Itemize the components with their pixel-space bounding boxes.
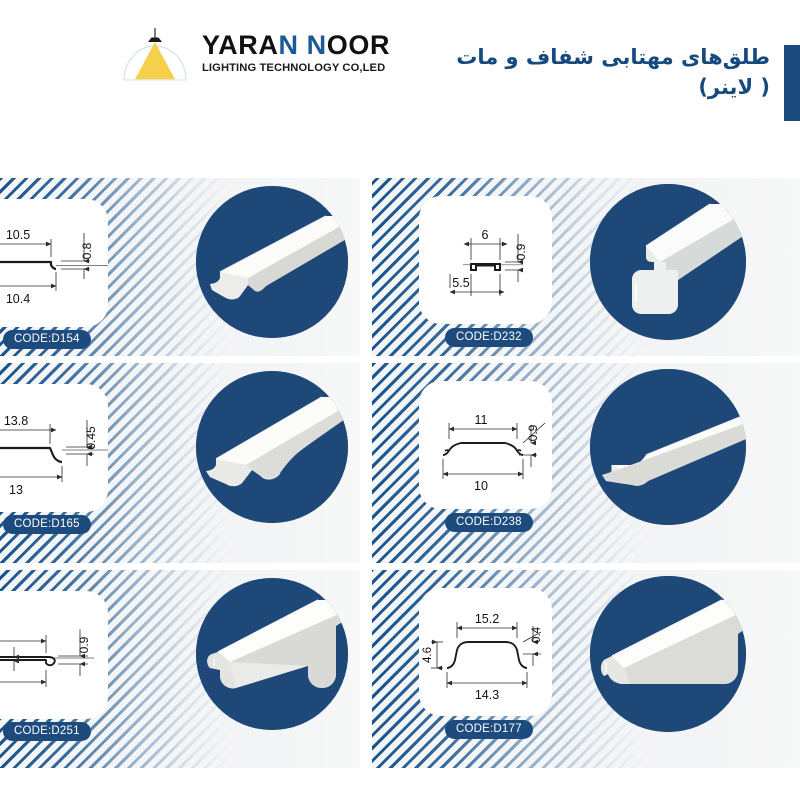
- product-card[interactable]: 10.5 10.4 0.8 CODE:D154: [0, 178, 360, 356]
- product-card[interactable]: 15.2 14.3 0.4 4.6 CODE:D177: [372, 570, 800, 768]
- product-photo[interactable]: [196, 578, 348, 730]
- page-header: YARAN NOOR LIGHTING TECHNOLOGY CO,LED طل…: [0, 0, 800, 155]
- dim-top-width: 13.8: [4, 414, 28, 428]
- title-accent-bar: [784, 45, 800, 121]
- product-code-badge: CODE:D165: [3, 515, 91, 534]
- bottom-white-strip: [0, 790, 800, 800]
- dim-height: 0.9: [514, 243, 528, 260]
- spec-drawing-panel: 10.5 10.4 0.8: [0, 199, 108, 327]
- brand-name-accent2: N: [307, 30, 327, 60]
- technical-drawing-d154: 10.5 10.4 0.8: [0, 199, 108, 327]
- dim-height: 0.4: [531, 626, 543, 643]
- dim-bottom-width: 13: [9, 483, 23, 497]
- spec-drawing-panel: 15.2 14.3 0.4 4.6: [419, 588, 552, 716]
- page-title-line2: ( لاینر): [456, 72, 770, 102]
- brand-name-space: [299, 30, 307, 60]
- product-photo[interactable]: [590, 369, 746, 525]
- dim-top-width: 10.5: [6, 228, 30, 242]
- product-photo[interactable]: [590, 576, 746, 732]
- brand-logo: YARAN NOOR LIGHTING TECHNOLOGY CO,LED: [118, 20, 390, 82]
- dim-bottom-width: 10.4: [6, 292, 30, 306]
- technical-drawing-d232: 6 5.5 0.9: [419, 196, 552, 324]
- product-card[interactable]: 11 10 0.9 CODE:D238: [372, 363, 800, 563]
- dim-height: 0.9: [77, 636, 91, 653]
- product-code-badge: CODE:D232: [445, 328, 533, 347]
- dim-bottom-width: 14.3: [475, 688, 499, 702]
- product-card[interactable]: 13.8 13 0.45 CODE:D165: [0, 363, 360, 563]
- dim-bottom-width: 5.5: [452, 276, 469, 290]
- dim-top-width: 15.2: [475, 612, 499, 626]
- brand-name-accent1: N: [278, 30, 298, 60]
- technical-drawing-d177: 15.2 14.3 0.4 4.6: [419, 588, 552, 716]
- brand-wordmark: YARAN NOOR LIGHTING TECHNOLOGY CO,LED: [202, 28, 390, 74]
- dim-side-height: 4.6: [422, 647, 434, 663]
- page-title-line1: طلق‌های مهتابی شفاف و مات: [456, 42, 770, 72]
- product-code-badge: CODE:D154: [3, 330, 91, 349]
- dim-top-width: 11: [475, 413, 488, 427]
- catalog-page: YARAN NOOR LIGHTING TECHNOLOGY CO,LED طل…: [0, 0, 800, 800]
- dim-height: 0.45: [84, 426, 98, 450]
- page-title: طلق‌های مهتابی شفاف و مات ( لاینر): [456, 42, 770, 103]
- product-photo[interactable]: [196, 186, 348, 338]
- technical-drawing-d165: 13.8 13 0.45: [0, 384, 108, 512]
- brand-name: YARAN NOOR: [202, 32, 390, 59]
- product-code-badge: CODE:D177: [445, 720, 533, 739]
- pendant-lamp-icon: [118, 20, 192, 82]
- technical-drawing-d238: 11 10 0.9: [419, 381, 552, 509]
- spec-drawing-panel: 17.6 16.8 0.9: [0, 591, 108, 719]
- spec-drawing-panel: 11 10 0.9: [419, 381, 552, 509]
- product-photo[interactable]: [590, 184, 746, 340]
- spec-drawing-panel: 6 5.5 0.9: [419, 196, 552, 324]
- brand-name-part1: YARA: [202, 30, 278, 60]
- dim-height: 0.8: [80, 242, 94, 259]
- dim-top-width: 6: [482, 228, 489, 242]
- dim-height: 0.9: [526, 424, 540, 441]
- dim-bottom-width: 10: [474, 479, 488, 493]
- product-grid: 10.5 10.4 0.8 CODE:D154: [0, 178, 800, 790]
- brand-tagline: LIGHTING TECHNOLOGY CO,LED: [202, 62, 390, 74]
- spec-drawing-panel: 13.8 13 0.45: [0, 384, 108, 512]
- brand-name-part2: OOR: [327, 30, 390, 60]
- product-card[interactable]: 6 5.5 0.9 CODE:D232: [372, 178, 800, 356]
- technical-drawing-d251: 17.6 16.8 0.9: [0, 591, 108, 719]
- product-photo[interactable]: [196, 371, 348, 523]
- product-card[interactable]: 17.6 16.8 0.9 CODE:D251: [0, 570, 360, 768]
- product-code-badge: CODE:D251: [3, 722, 91, 741]
- product-code-badge: CODE:D238: [445, 513, 533, 532]
